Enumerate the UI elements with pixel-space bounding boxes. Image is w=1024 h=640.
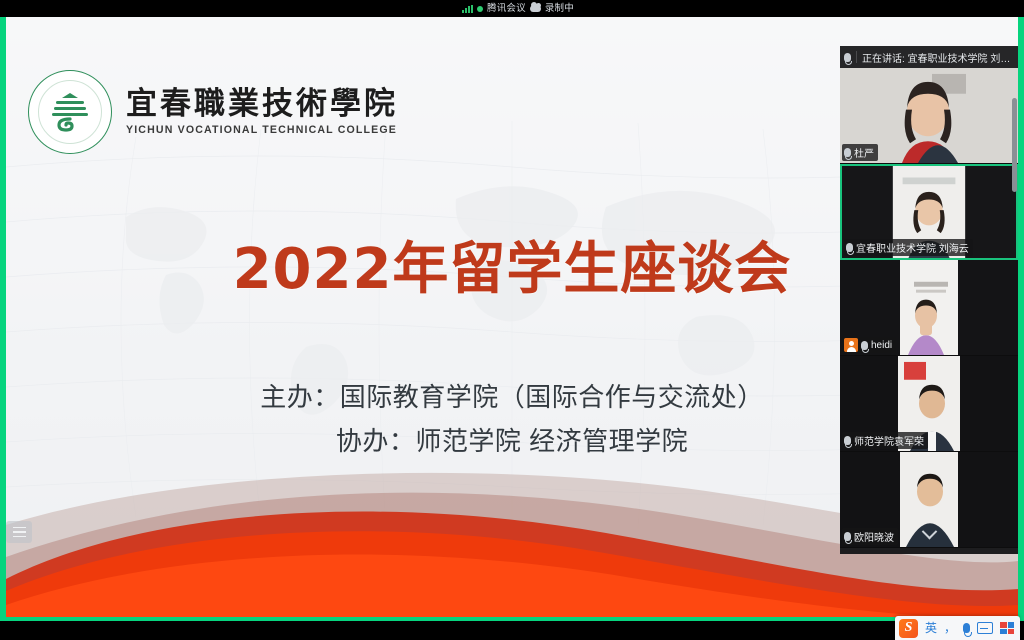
participant-name-chip: heidi <box>842 337 896 353</box>
ime-soft-keyboard[interactable] <box>977 622 993 634</box>
college-name-cn: 宜春職業技術學院 <box>126 88 398 121</box>
microphone-icon <box>844 436 851 445</box>
share-border-left <box>0 17 6 621</box>
status-dot-icon <box>477 6 483 12</box>
sogou-ime-toolbar[interactable]: S 英 ， <box>895 616 1020 640</box>
participant-name: 杜严 <box>854 145 874 160</box>
participant-name: 师范学院袁军荣 <box>854 433 924 448</box>
microphone-icon <box>861 341 868 350</box>
participant-tile[interactable]: 师范学院袁军荣 <box>840 356 1018 452</box>
microphone-icon <box>844 53 851 62</box>
ime-voice-input[interactable] <box>963 623 970 633</box>
participant-tiles: 杜严 宜春职业技术学院 刘海云 <box>840 68 1018 548</box>
microphone-icon <box>844 148 851 157</box>
soft-keyboard-icon <box>977 622 993 634</box>
user-avatar-icon <box>844 338 858 352</box>
signal-bars-icon <box>462 5 473 13</box>
ime-punctuation-toggle[interactable]: ， <box>944 622 956 634</box>
participant-tile[interactable]: 宜春职业技术学院 刘海云 <box>840 164 1018 260</box>
microphone-icon <box>963 623 970 633</box>
divider <box>856 51 857 63</box>
ime-mode-toggle[interactable]: 英 <box>925 622 937 634</box>
participant-name-chip: 欧阳晓波 <box>842 528 898 545</box>
participant-name: heidi <box>871 340 892 351</box>
active-speaker-label: 正在讲话: 宜春职业技术学院 刘… <box>862 50 1010 65</box>
participant-name: 宜春职业技术学院 刘海云 <box>856 240 969 255</box>
recording-status: 录制中 <box>545 4 574 14</box>
participant-name-chip: 宜春职业技术学院 刘海云 <box>844 239 973 256</box>
participant-name-chip: 师范学院袁军荣 <box>842 432 928 449</box>
college-crest-icon <box>28 70 112 154</box>
participant-scrollbar[interactable] <box>1012 98 1017 192</box>
participant-tile[interactable]: 欧阳晓波 <box>840 452 1018 548</box>
participant-name-chip: 杜严 <box>842 144 878 161</box>
sogou-pinyin-icon[interactable]: S <box>899 619 918 638</box>
screen: 宜春職業技術學院 YICHUN VOCATIONAL TECHNICAL COL… <box>0 0 1024 640</box>
ime-toolbox-icon <box>1000 622 1014 634</box>
meeting-status-pill[interactable]: 腾讯会议 录制中 <box>462 1 574 16</box>
cloud-recording-icon <box>530 5 541 12</box>
meeting-app-name: 腾讯会议 <box>487 4 526 14</box>
participant-tile[interactable]: heidi <box>840 260 1018 356</box>
microphone-icon <box>846 243 853 252</box>
participant-tile[interactable]: 杜严 <box>840 68 1018 164</box>
college-name-en: YICHUN VOCATIONAL TECHNICAL COLLEGE <box>126 124 398 136</box>
active-speaker-bar: 正在讲话: 宜春职业技术学院 刘… <box>840 46 1018 68</box>
share-border-right <box>1018 17 1024 621</box>
system-top-bar: 腾讯会议 录制中 <box>0 0 1024 17</box>
microphone-icon <box>844 532 851 541</box>
college-logo: 宜春職業技術學院 YICHUN VOCATIONAL TECHNICAL COL… <box>28 70 398 154</box>
crest-emblem-glyph <box>47 89 93 135</box>
ime-toolbox[interactable] <box>1000 622 1014 634</box>
participant-video-panel[interactable]: 正在讲话: 宜春职业技术学院 刘… 杜严 <box>840 46 1018 554</box>
windows-taskbar <box>0 621 1024 640</box>
slide-menu-icon[interactable] <box>6 521 32 543</box>
participant-name: 欧阳晓波 <box>854 529 894 544</box>
chevron-down-icon[interactable] <box>918 527 940 541</box>
